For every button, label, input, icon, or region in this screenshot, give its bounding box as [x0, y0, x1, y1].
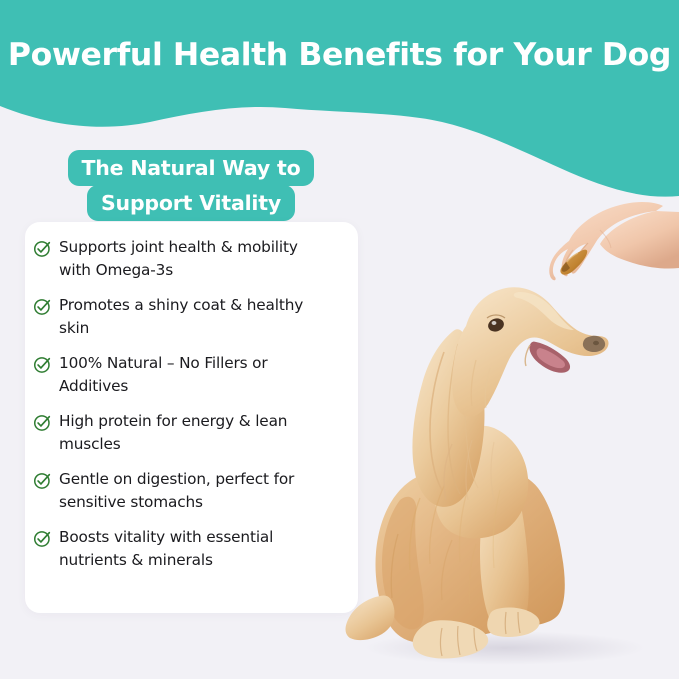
benefit-item: Gentle on digestion, perfect for sensiti…	[33, 468, 342, 513]
dog	[346, 287, 609, 658]
dog-treat	[560, 250, 587, 275]
benefit-item: Boosts vitality with essential nutrients…	[33, 526, 342, 571]
page-title: Powerful Health Benefits for Your Dog	[0, 36, 679, 74]
dog-shadow	[365, 631, 645, 665]
benefit-item: Promotes a shiny coat & healthy skin	[33, 294, 342, 339]
check-circle-icon	[33, 355, 52, 374]
badge-line-2: Support Vitality	[87, 185, 295, 221]
badge-line-1: The Natural Way to	[68, 150, 315, 186]
badge-subtitle: The Natural Way to Support Vitality	[0, 150, 382, 221]
benefit-item: 100% Natural – No Fillers or Additives	[33, 352, 342, 397]
infographic-root: Powerful Health Benefits for Your Dog	[0, 0, 679, 679]
benefit-text: 100% Natural – No Fillers or Additives	[59, 352, 321, 397]
check-circle-icon	[33, 297, 52, 316]
check-circle-icon	[33, 529, 52, 548]
check-circle-icon	[33, 239, 52, 258]
benefits-card: Supports joint health & mobility with Om…	[25, 222, 358, 613]
check-circle-icon	[33, 471, 52, 490]
benefit-text: Boosts vitality with essential nutrients…	[59, 526, 321, 571]
benefit-text: Promotes a shiny coat & healthy skin	[59, 294, 321, 339]
benefit-item: Supports joint health & mobility with Om…	[33, 236, 342, 281]
benefit-text: Gentle on digestion, perfect for sensiti…	[59, 468, 321, 513]
check-circle-icon	[33, 413, 52, 432]
benefit-text: Supports joint health & mobility with Om…	[59, 236, 321, 281]
dog-eye	[486, 316, 505, 333]
benefit-text: High protein for energy & lean muscles	[59, 410, 321, 455]
benefit-item: High protein for energy & lean muscles	[33, 410, 342, 455]
